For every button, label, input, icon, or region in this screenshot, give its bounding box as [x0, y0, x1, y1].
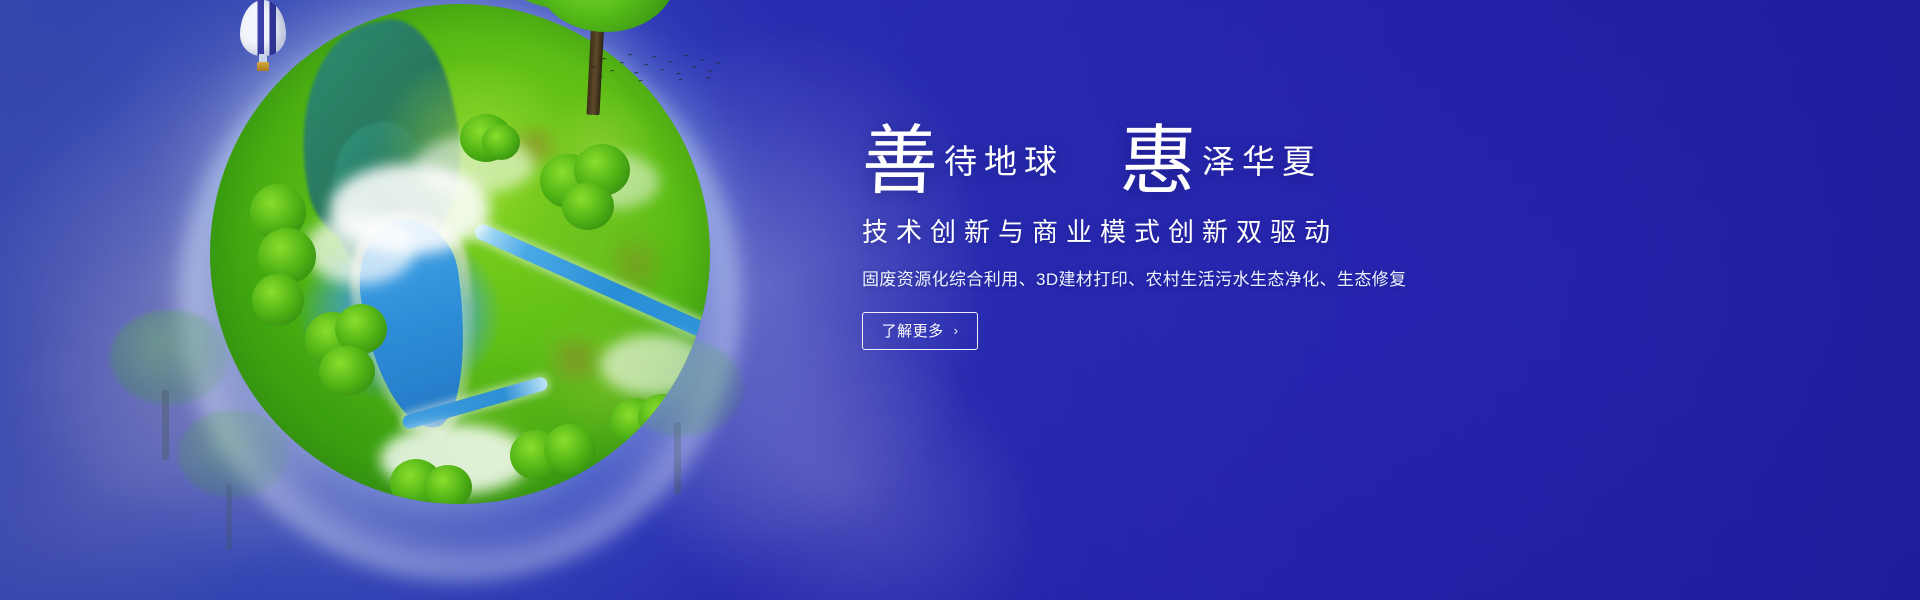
tree: [305, 304, 390, 399]
cloud: [305, 214, 415, 284]
page-description: 固废资源化综合利用、3D建材打印、农村生活污水生态净化、生态修复: [862, 265, 1622, 290]
tree: [390, 459, 480, 504]
bird-flock: [590, 52, 720, 86]
headline-segment-1: 善 待地球: [862, 128, 1064, 198]
tree: [510, 424, 600, 494]
hero-banner: 善 待地球 惠 泽华夏 技术创新与商业模式创新双驱动 固废资源化综合利用、3D建…: [0, 0, 1920, 600]
page-title: 善 待地球 惠 泽华夏: [862, 128, 1622, 198]
headline-rest-chars: 待地球: [944, 139, 1064, 198]
tree: [540, 144, 630, 234]
headline-lead-char: 善: [861, 128, 945, 198]
headline-lead-char: 惠: [1119, 128, 1203, 198]
hero-copy: 善 待地球 惠 泽华夏 技术创新与商业模式创新双驱动 固废资源化综合利用、3D建…: [862, 128, 1622, 350]
globe-illustration: [140, 0, 780, 600]
headline-segment-2: 惠 泽华夏: [1120, 128, 1322, 198]
headline-rest-chars: 泽华夏: [1202, 139, 1322, 198]
chevron-right-icon: ›: [954, 324, 959, 337]
learn-more-label: 了解更多: [882, 320, 944, 341]
soil-patch: [540, 334, 610, 384]
tree: [460, 114, 520, 174]
learn-more-button[interactable]: 了解更多 ›: [862, 312, 978, 350]
tree: [610, 394, 690, 464]
page-subtitle: 技术创新与商业模式创新双驱动: [862, 212, 1622, 249]
hot-air-balloon-icon: [240, 0, 286, 76]
cloud: [600, 334, 710, 396]
